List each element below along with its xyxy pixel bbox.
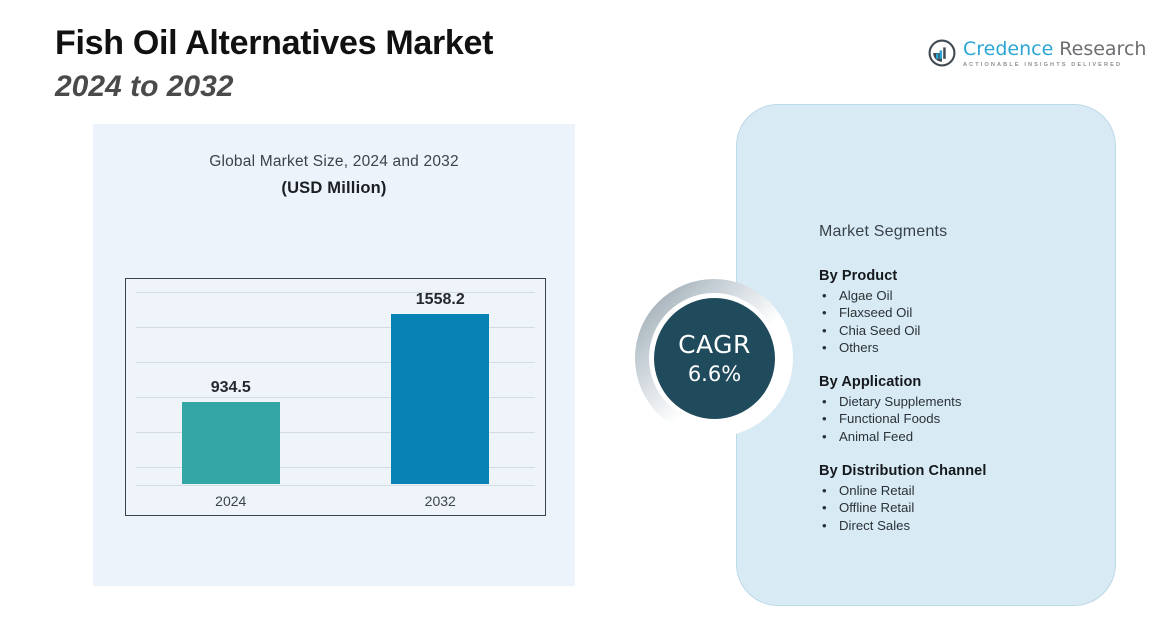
bar-group-2024: 934.5: [126, 279, 336, 484]
bar-group-2032: 1558.2: [336, 279, 546, 484]
bullet-icon: •: [822, 304, 827, 321]
bullet-icon: •: [822, 499, 827, 516]
logo-text: Credence Research Actionable Insights De…: [963, 38, 1146, 68]
bullet-icon: •: [822, 482, 827, 499]
logo-tagline: Actionable Insights Delivered: [963, 62, 1146, 68]
x-axis-labels: 2024 2032: [126, 493, 545, 509]
list-item-label: Direct Sales: [839, 518, 910, 533]
infographic-canvas: Fish Oil Alternatives Market 2024 to 203…: [0, 0, 1158, 618]
bar-chart-plot-area: 934.5 1558.2 2024 2032: [125, 278, 546, 516]
segment-item-list: •Algae Oil •Flaxseed Oil •Chia Seed Oil …: [819, 287, 1104, 356]
list-item: •Others: [819, 339, 1104, 356]
list-item-label: Online Retail: [839, 483, 915, 498]
list-item: •Animal Feed: [819, 428, 1104, 445]
bullet-icon: •: [822, 410, 827, 427]
logo-brand-primary: Credence: [963, 38, 1053, 60]
segment-group-by-application: By Application •Dietary Supplements •Fun…: [819, 374, 1104, 445]
list-item: •Dietary Supplements: [819, 393, 1104, 410]
market-segments-title: Market Segments: [819, 223, 1104, 241]
cagr-label: CAGR: [678, 332, 751, 357]
list-item-label: Offline Retail: [839, 500, 914, 515]
cagr-circle: CAGR 6.6%: [654, 298, 775, 419]
segment-group-by-distribution-channel: By Distribution Channel •Online Retail •…: [819, 463, 1104, 534]
market-segments-panel: Market Segments By Product •Algae Oil •F…: [736, 104, 1116, 606]
market-size-chart-panel: Global Market Size, 2024 and 2032 (USD M…: [93, 124, 575, 586]
list-item-label: Chia Seed Oil: [839, 323, 920, 338]
chart-title: Global Market Size, 2024 and 2032: [93, 153, 575, 171]
page-subtitle: 2024 to 2032: [55, 67, 675, 106]
header-title-block: Fish Oil Alternatives Market 2024 to 203…: [55, 22, 675, 106]
list-item: •Flaxseed Oil: [819, 304, 1104, 321]
x-axis-label-2024: 2024: [126, 493, 336, 509]
bullet-icon: •: [822, 428, 827, 445]
chart-subtitle: (USD Million): [93, 179, 575, 198]
bullet-icon: •: [822, 322, 827, 339]
list-item: •Chia Seed Oil: [819, 322, 1104, 339]
chart-heading: Global Market Size, 2024 and 2032 (USD M…: [93, 153, 575, 198]
list-item: •Algae Oil: [819, 287, 1104, 304]
list-item-label: Animal Feed: [839, 429, 913, 444]
segment-item-list: •Dietary Supplements •Functional Foods •…: [819, 393, 1104, 445]
bar-value-2024: 934.5: [211, 379, 251, 397]
list-item-label: Algae Oil: [839, 288, 893, 303]
page-title: Fish Oil Alternatives Market: [55, 22, 675, 65]
bullet-icon: •: [822, 517, 827, 534]
list-item-label: Others: [839, 340, 879, 355]
list-item: •Functional Foods: [819, 410, 1104, 427]
bars-area: 934.5 1558.2: [126, 279, 545, 484]
list-item: •Online Retail: [819, 482, 1104, 499]
segment-group-title: By Product: [819, 268, 1104, 284]
bar-2024[interactable]: 934.5: [182, 402, 280, 484]
cagr-badge: CAGR 6.6%: [635, 279, 793, 437]
x-axis-label-2032: 2032: [336, 493, 546, 509]
bar-value-2032: 1558.2: [416, 291, 465, 309]
bullet-icon: •: [822, 393, 827, 410]
segment-group-title: By Application: [819, 374, 1104, 390]
segment-item-list: •Online Retail •Offline Retail •Direct S…: [819, 482, 1104, 534]
segment-group-by-product: By Product •Algae Oil •Flaxseed Oil •Chi…: [819, 268, 1104, 356]
credence-research-logo[interactable]: Credence Research Actionable Insights De…: [928, 38, 1146, 68]
bar-2032[interactable]: 1558.2: [391, 314, 489, 484]
market-segments-content: Market Segments By Product •Algae Oil •F…: [819, 223, 1104, 534]
list-item: •Offline Retail: [819, 499, 1104, 516]
bullet-icon: •: [822, 339, 827, 356]
list-item-label: Dietary Supplements: [839, 394, 961, 409]
logo-brand-secondary: Research: [1059, 38, 1146, 60]
list-item: •Direct Sales: [819, 517, 1104, 534]
bar-chart-circle-icon: [928, 39, 956, 67]
list-item-label: Functional Foods: [839, 411, 940, 426]
segment-group-title: By Distribution Channel: [819, 463, 1104, 479]
cagr-value: 6.6%: [688, 364, 741, 385]
bullet-icon: •: [822, 287, 827, 304]
list-item-label: Flaxseed Oil: [839, 305, 912, 320]
